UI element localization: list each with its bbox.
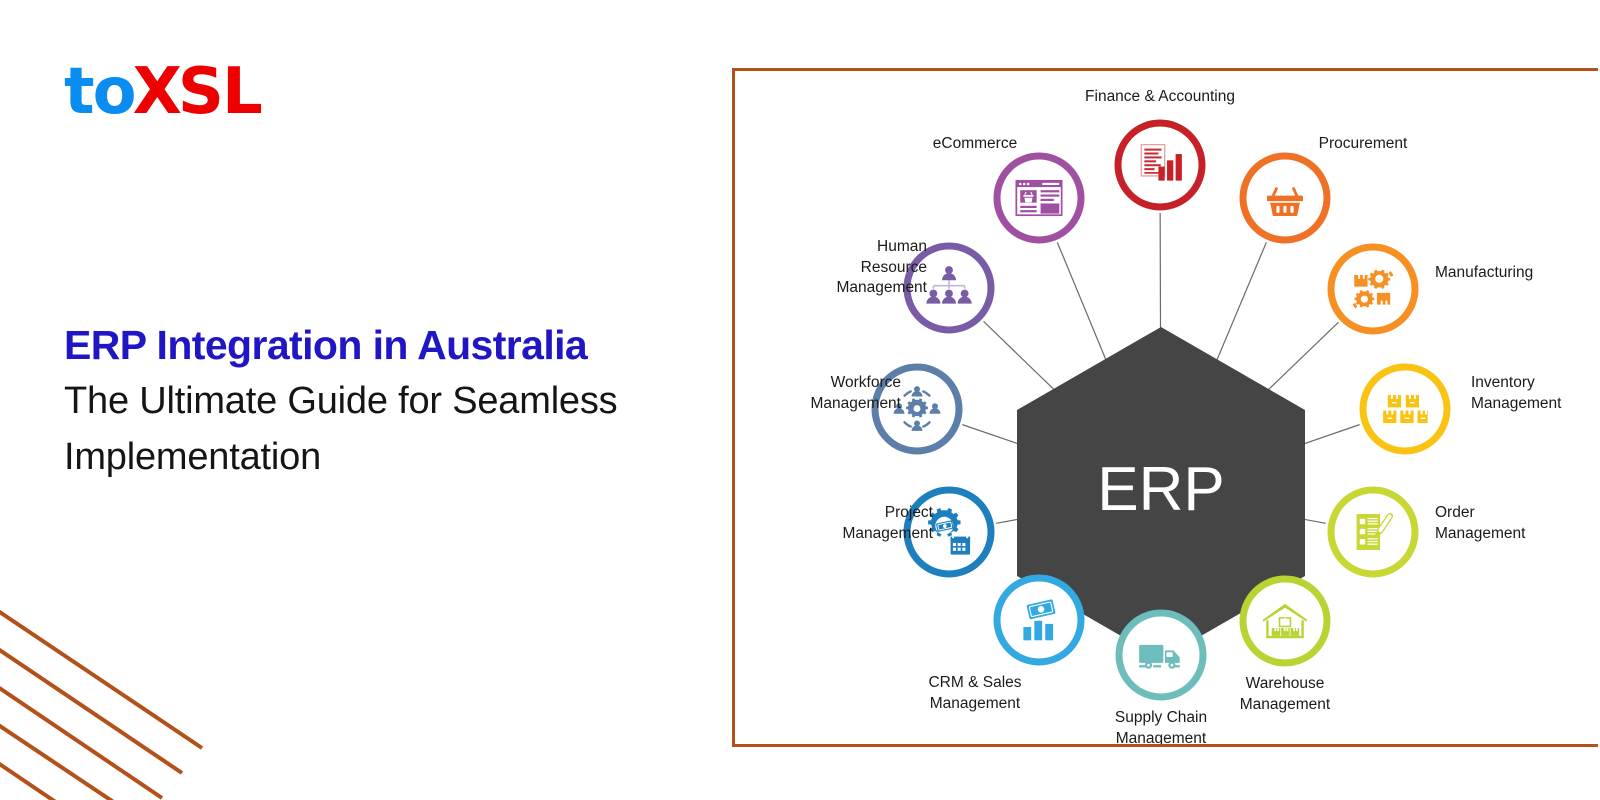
node-ecommerce[interactable] (997, 156, 1081, 240)
node-ring (1363, 367, 1447, 451)
node-manufacturing[interactable] (1331, 247, 1415, 331)
left-content-panel: toXSL ERP Integration in Australia The U… (0, 0, 730, 800)
label-finance-accounting: Finance & Accounting (1070, 87, 1250, 108)
label-human-resource-management: Human Resource Management (777, 237, 927, 299)
logo-text-to: to (64, 55, 135, 129)
label-project-management: Project Management (783, 503, 933, 544)
label-crm-sales-management: CRM & Sales Management (885, 673, 1065, 714)
label-supply-chain-management: Supply Chain Management (1071, 708, 1251, 747)
erp-center-label: ERP (1097, 455, 1224, 524)
node-supply-chain-management[interactable] (1119, 613, 1203, 697)
label-workforce-management: Workforce Management (751, 373, 901, 414)
label-inventory-management: Inventory Management (1471, 373, 1561, 414)
node-ring (1331, 247, 1415, 331)
label-ecommerce: eCommerce (885, 134, 1065, 155)
node-finance-accounting[interactable] (1118, 123, 1202, 207)
logo-text-x: X (133, 55, 180, 129)
decorative-diagonal-lines (0, 570, 300, 800)
node-ring (997, 578, 1081, 662)
logo-text-sl: SL (178, 55, 261, 129)
node-order-management[interactable] (1331, 490, 1415, 574)
node-procurement[interactable] (1243, 156, 1327, 240)
page-title: ERP Integration in Australia (64, 320, 724, 370)
label-order-management: Order Management (1435, 503, 1525, 544)
erp-diagram-panel: ERP Finance & AccountingProcurementManuf… (732, 68, 1598, 747)
node-inventory-management[interactable] (1363, 367, 1447, 451)
node-ring (997, 156, 1081, 240)
node-crm-sales-management[interactable] (997, 578, 1081, 662)
label-manufacturing: Manufacturing (1435, 263, 1533, 284)
label-procurement: Procurement (1273, 134, 1453, 155)
headline-block: ERP Integration in Australia The Ultimat… (64, 320, 724, 486)
toxsl-logo: toXSL (64, 60, 265, 124)
node-warehouse-management[interactable] (1243, 579, 1327, 663)
page-subtitle: The Ultimate Guide for Seamless Implemen… (64, 374, 724, 486)
